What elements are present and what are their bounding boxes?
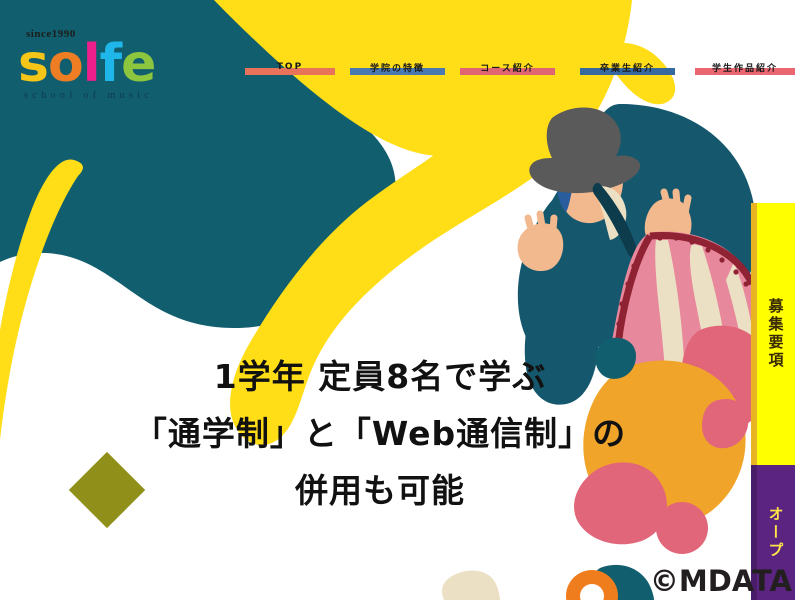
- nav-item-0[interactable]: TOP: [245, 56, 335, 78]
- main-navigation: TOP学院の特徴コース紹介卒業生紹介学生作品紹介: [225, 56, 785, 80]
- nav-item-label-4: 学生作品紹介: [712, 61, 778, 74]
- logo-letter-l: l: [83, 38, 100, 90]
- logo-subtitle: school of music: [24, 90, 153, 101]
- hero-page: since1990 solfe school of music TOP学院の特徴…: [0, 0, 800, 600]
- nav-item-label-2: コース紹介: [480, 61, 535, 74]
- watermark-text: ©MDATA: [650, 564, 792, 598]
- logo-letter-s: s: [18, 38, 48, 90]
- nav-item-4[interactable]: 学生作品紹介: [695, 56, 795, 78]
- logo-letter-f: f: [100, 38, 122, 90]
- side-tab-boshu-youkou[interactable]: 募集要項: [757, 203, 795, 465]
- nav-item-label-3: 卒業生紹介: [600, 61, 655, 74]
- headline-line-0: 1学年 定員8名で学ぶ: [60, 348, 700, 405]
- logo-letter-o: o: [48, 38, 83, 90]
- nav-item-1[interactable]: 学院の特徴: [350, 56, 445, 78]
- hero-headline: 1学年 定員8名で学ぶ「通学制」と「Web通信制」の併用も可能: [60, 348, 700, 519]
- nav-item-label-0: TOP: [277, 62, 303, 72]
- nav-item-label-1: 学院の特徴: [370, 61, 425, 74]
- site-logo[interactable]: since1990 solfe school of music: [18, 28, 178, 108]
- logo-letter-e: e: [121, 38, 155, 90]
- headline-line-2: 併用も可能: [60, 462, 700, 519]
- nav-item-2[interactable]: コース紹介: [460, 56, 555, 78]
- headline-line-1: 「通学制」と「Web通信制」の: [60, 405, 700, 462]
- cream-blob-bottom: [442, 570, 500, 600]
- logo-wordmark: solfe: [18, 38, 155, 90]
- nav-item-3[interactable]: 卒業生紹介: [580, 56, 675, 78]
